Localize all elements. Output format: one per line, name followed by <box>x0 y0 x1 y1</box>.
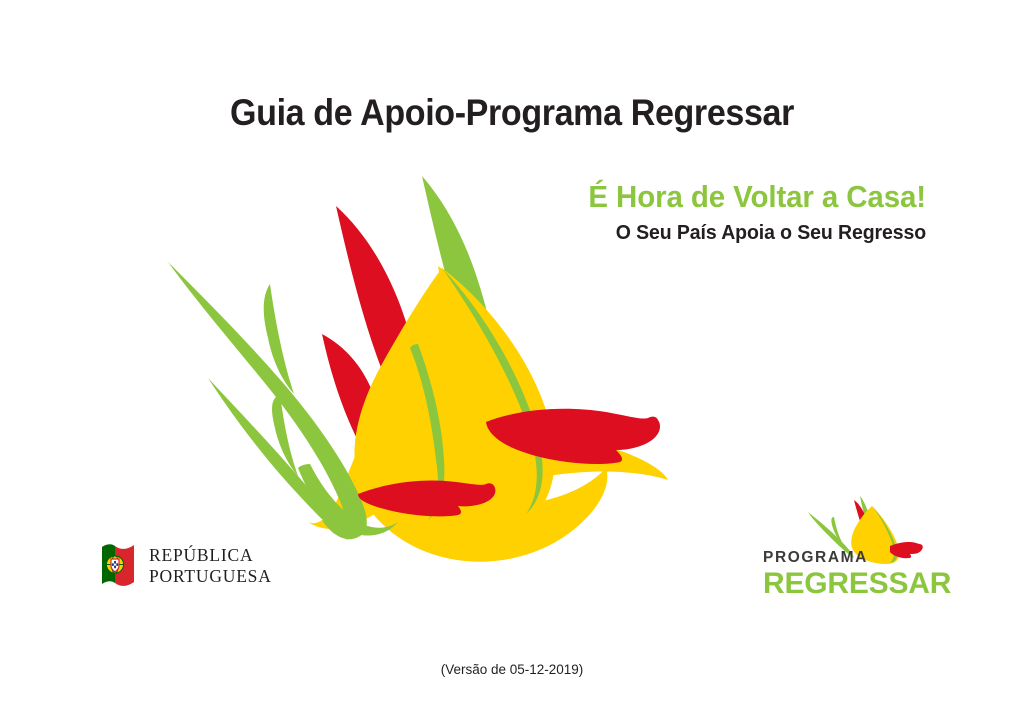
swallow-illustration <box>150 168 670 570</box>
republica-line-1: REPÚBLICA <box>149 545 272 566</box>
programa-label: PROGRAMA <box>763 550 938 566</box>
regressar-label: REGRESSAR <box>763 568 938 600</box>
flag-escutcheon <box>114 566 116 569</box>
flag-escutcheon <box>112 563 114 566</box>
page-title: Guia de Apoio-Programa Regressar <box>41 92 983 134</box>
republica-portuguesa-logo: REPÚBLICA PORTUGUESA <box>100 538 300 594</box>
portugal-flag-icon <box>100 541 138 591</box>
flag-escutcheon <box>116 563 118 566</box>
version-note: (Versão de 05-12-2019) <box>0 662 1024 677</box>
portugal-flag-icon-svg <box>100 541 138 591</box>
programa-regressar-wordmark: PROGRAMA REGRESSAR <box>763 550 938 599</box>
flag-escutcheon <box>114 561 116 564</box>
swallow-illustration-svg <box>150 168 670 570</box>
document-page: Guia de Apoio-Programa Regressar É Hora … <box>0 0 1024 724</box>
republica-line-2: PORTUGUESA <box>149 566 272 587</box>
republica-portuguesa-wordmark: REPÚBLICA PORTUGUESA <box>149 545 272 586</box>
programa-regressar-logo: PROGRAMA REGRESSAR <box>758 492 936 604</box>
